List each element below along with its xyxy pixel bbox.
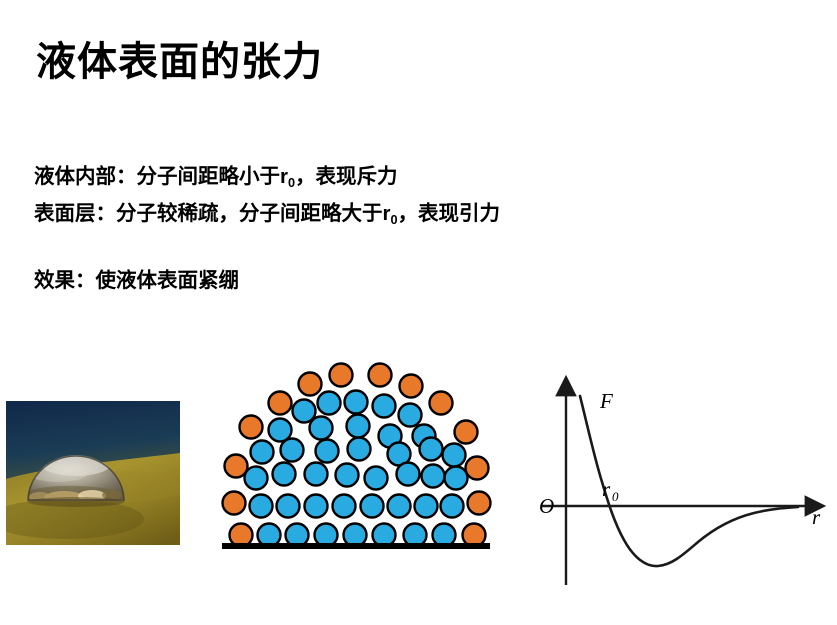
x-axis-label: r [812,505,821,529]
interior-molecule [273,463,296,486]
interior-molecule [399,404,422,427]
interior-molecule [388,495,411,518]
interior-molecule [277,495,300,518]
interior-molecule [420,438,443,461]
interior-molecule [345,391,368,414]
interior-molecule [281,439,304,462]
equilibrium-distance-subscript: 0 [612,489,619,504]
body-text-line-1: 液体内部：分子间距略小于r0，表现斥力 [34,167,398,188]
surface-molecule [223,492,246,515]
interior-molecule [347,415,370,438]
body-line-1-suffix: ，表现斥力 [295,165,398,188]
interior-molecule [305,495,328,518]
body-text-line-3: 效果：使液体表面紧绷 [34,271,239,292]
body-line-2-suffix: ，表现引力 [398,202,501,225]
surface-molecule [400,375,423,398]
surface-molecule [299,373,322,396]
interior-molecule [250,495,273,518]
interior-molecule [305,463,328,486]
interior-molecule [415,495,438,518]
interior-molecule [422,465,445,488]
body-line-2-prefix: 表面层：分子较稀疏，分子间距略大于r [34,202,390,225]
interior-molecule [443,444,466,467]
surface-molecule [430,392,453,415]
force-curve [580,396,798,566]
interior-molecule [348,438,371,461]
interior-molecule [333,495,356,518]
molecule-circles [223,364,491,547]
body-line-3-prefix: 效果：使液体表面紧绷 [34,269,239,292]
molecule-packing-diagram [212,358,502,558]
interior-molecule [445,467,468,490]
interior-molecule [318,392,341,415]
water-droplet-photo [6,401,180,545]
interior-molecule [361,495,384,518]
interior-molecule [310,417,333,440]
surface-molecule [330,364,353,387]
body-line-1-subscript: 0 [288,175,295,190]
origin-label: O [539,494,554,518]
body-line-1-prefix: 液体内部：分子间距略小于r [34,165,288,188]
body-line-2-subscript: 0 [390,212,397,227]
interior-molecule [316,440,339,463]
surface-molecule [269,392,292,415]
surface-molecule [369,364,392,387]
interior-molecule [245,467,268,490]
surface-molecule [466,457,489,480]
interior-molecule [397,463,420,486]
page-title: 液体表面的张力 [36,40,323,84]
equilibrium-distance-label: r [602,477,611,501]
interior-molecule [365,467,388,490]
interior-molecule [441,495,464,518]
surface-molecule [455,421,478,444]
interior-molecule [336,464,359,487]
interior-molecule [373,395,396,418]
surface-molecule [468,492,491,515]
body-text-line-2: 表面层：分子较稀疏，分子间距略大于r0，表现引力 [34,204,500,225]
interior-molecule [251,441,274,464]
y-axis-label: F [599,389,613,413]
surface-molecule [240,416,263,439]
slide-canvas: 液体表面的张力 液体内部：分子间距略小于r0，表现斥力 表面层：分子较稀疏，分子… [0,0,837,625]
force-distance-graph: O F r r 0 [522,370,832,600]
